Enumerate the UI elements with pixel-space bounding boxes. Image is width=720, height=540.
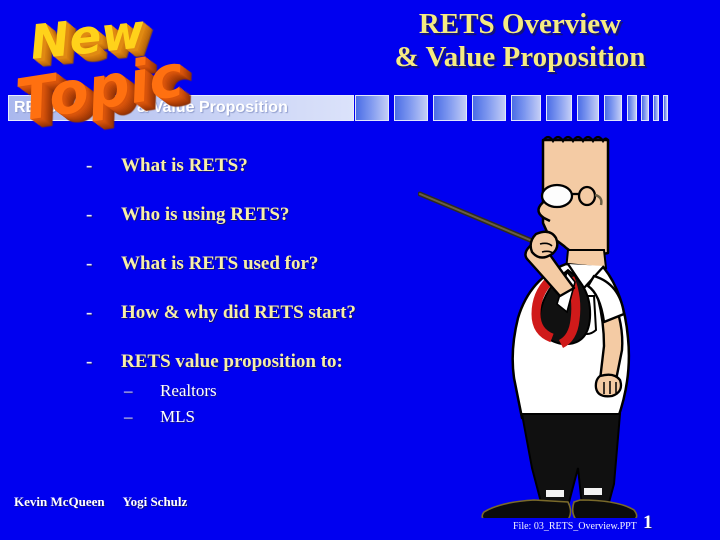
bullet-dash-marker: - <box>86 155 92 177</box>
banner-box-8 <box>604 95 622 121</box>
bullet-text: RETS value proposition to: <box>121 351 343 372</box>
sub-list-item: – MLS <box>86 406 446 427</box>
presentation-slide: RETS Overview & Value Proposition RETS O… <box>0 0 720 540</box>
necktie-icon <box>536 270 590 344</box>
title-line-2: & Value Proposition <box>330 41 710 74</box>
banner-box-5 <box>511 95 541 121</box>
title-line-1: RETS Overview <box>330 8 710 41</box>
banner-box-10 <box>641 95 649 121</box>
bullet-text: Who is using RETS? <box>121 204 289 225</box>
new-topic-word-new: New <box>27 4 147 71</box>
glasses-icon <box>542 185 601 207</box>
list-item: - RETS value proposition to: <box>86 351 446 373</box>
bullet-text: What is RETS used for? <box>121 253 318 274</box>
bullet-dash-marker: - <box>86 351 92 373</box>
sub-bullet-dash-marker: – <box>124 406 133 427</box>
sub-bullet-list: – Realtors – MLS <box>86 380 446 427</box>
banner-box-1 <box>355 95 389 121</box>
bullet-dash-marker: - <box>86 204 92 226</box>
pointing-presenter-cartoon-icon <box>418 128 688 518</box>
sub-bullet-text: MLS <box>160 407 195 426</box>
banner-progress-strip: RETS Overview & Value Proposition <box>8 95 676 121</box>
banner-box-2 <box>394 95 428 121</box>
banner-box-6 <box>546 95 572 121</box>
page-title: RETS Overview & Value Proposition <box>330 8 710 74</box>
list-item: - Who is using RETS? <box>86 204 446 226</box>
page-number: 1 <box>643 512 653 534</box>
banner-box-9 <box>627 95 637 121</box>
banner-box-3 <box>433 95 467 121</box>
bullet-list: - What is RETS? - Who is using RETS? - W… <box>86 155 446 432</box>
sub-bullet-dash-marker: – <box>124 380 133 401</box>
list-item: - How & why did RETS start? <box>86 302 446 324</box>
shoes-icon <box>482 500 636 518</box>
bullet-text: How & why did RETS start? <box>121 302 356 323</box>
source-filename: File: 03_RETS_Overview.PPT <box>513 521 637 532</box>
banner-label: RETS Overview & Value Proposition <box>8 95 354 121</box>
author-name-1: Kevin McQueen <box>14 494 105 509</box>
author-name-2: Yogi Schulz <box>123 494 188 509</box>
bullet-text: What is RETS? <box>121 155 248 176</box>
list-item: - What is RETS used for? <box>86 253 446 275</box>
banner-box-4 <box>472 95 506 121</box>
banner-box-11 <box>653 95 659 121</box>
authors-credit: Kevin McQueenYogi Schulz <box>14 494 187 510</box>
bullet-dash-marker: - <box>86 302 92 324</box>
sub-list-item: – Realtors <box>86 380 446 401</box>
bullet-dash-marker: - <box>86 253 92 275</box>
sub-bullet-text: Realtors <box>160 381 217 400</box>
list-item: - What is RETS? <box>86 155 446 177</box>
banner-box-7 <box>577 95 599 121</box>
banner-box-12 <box>663 95 668 121</box>
